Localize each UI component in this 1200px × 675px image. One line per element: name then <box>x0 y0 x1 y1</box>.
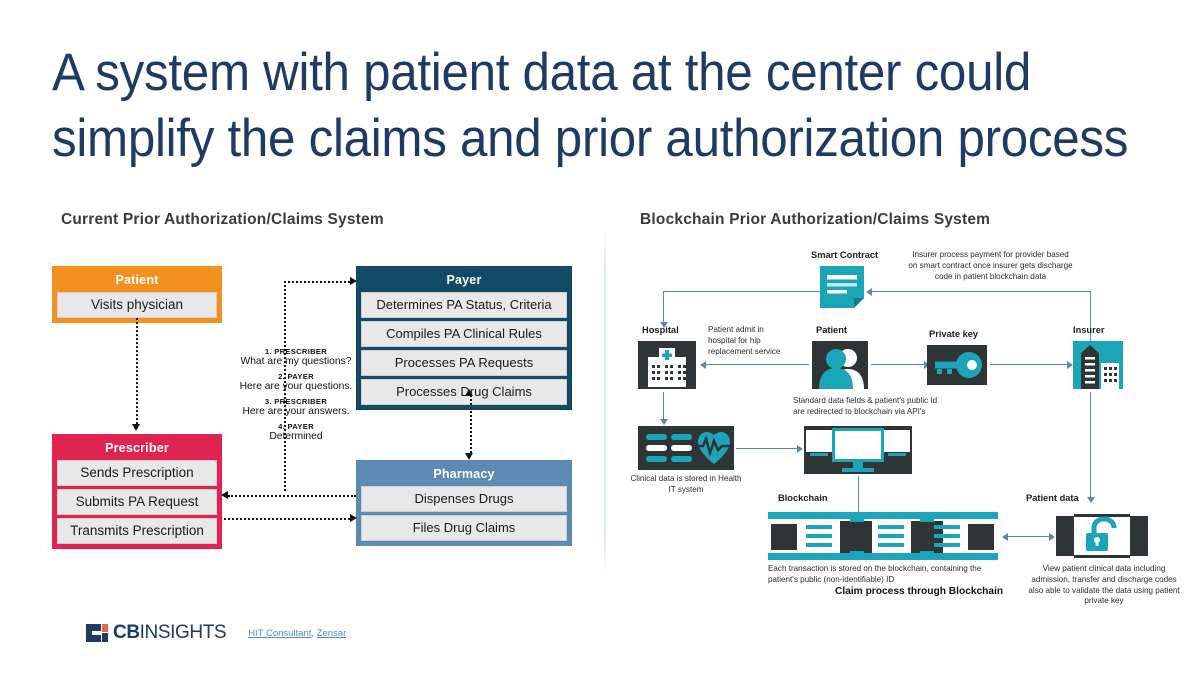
arrow-sc-to-hospital-v <box>663 291 664 323</box>
connector-prescriber-pharmacy <box>224 518 350 520</box>
section-header-current: Current Prior Authorization/Claims Syste… <box>61 211 384 229</box>
step-text: Here are your answers. <box>218 406 374 417</box>
arrowhead-right <box>797 445 803 453</box>
annotation-view-patient: View patient clinical data including adm… <box>1028 564 1180 607</box>
arrow-monitors-to-blockchain <box>858 476 859 516</box>
step-number: 3. PRESCRIBER <box>218 397 374 406</box>
logo-insights: INSIGHTS <box>140 622 227 643</box>
smart-contract-icon <box>820 266 864 313</box>
arrowhead-right <box>350 277 357 285</box>
node-label-patient: Patient <box>816 325 847 335</box>
flow-row: Processes Drug Claims <box>361 379 567 405</box>
step-item: 4. PAYER Determined <box>218 422 374 442</box>
title-line-1: A system with patient data at the center… <box>52 40 1084 106</box>
source-link-hit-consultant[interactable]: HIT Consultant <box>248 628 311 639</box>
arrow-insurer-to-patientdata <box>1090 392 1091 498</box>
arrowhead-right <box>1049 533 1055 541</box>
logo-cb: CB <box>113 622 140 643</box>
cbinsights-wordmark: CBINSIGHTS <box>113 622 226 644</box>
arrowhead-right <box>350 514 357 522</box>
flow-box-title: Prescriber <box>57 438 217 460</box>
step-item: 2. PAYER Here are your questions. <box>218 372 374 392</box>
step-item: 3. PRESCRIBER Here are your answers. <box>218 397 374 417</box>
hospital-icon <box>638 341 696 394</box>
flow-row: Determines PA Status, Criteria <box>361 292 567 318</box>
step-number: 2. PAYER <box>218 372 374 381</box>
step-text: Determined <box>218 431 374 442</box>
step-text: Here are your questions. <box>218 381 374 392</box>
slide: A system with patient data at the center… <box>0 0 1200 675</box>
patient-data-icon <box>1056 512 1148 565</box>
page-title: A system with patient data at the center… <box>52 40 1084 171</box>
node-label-private-key: Private key <box>929 329 978 339</box>
flow-box-prescriber: Prescriber Sends Prescription Submits PA… <box>52 434 222 549</box>
node-label-insurer: Insurer <box>1073 325 1105 335</box>
arrow-sc-to-hospital-h <box>663 291 820 292</box>
arrowhead-down <box>132 424 140 431</box>
section-header-blockchain: Blockchain Prior Authorization/Claims Sy… <box>640 211 990 229</box>
connector-pharmacy-prescriber <box>228 495 356 497</box>
arrowhead-down <box>660 419 668 425</box>
step-number: 1. PRESCRIBER <box>218 347 374 356</box>
private-key-icon <box>927 345 987 390</box>
arrow-clinical-to-monitors <box>736 448 798 449</box>
panel-divider <box>604 228 606 576</box>
flow-box-title: Pharmacy <box>361 464 567 486</box>
arrow-blockchain-patientdata <box>1006 536 1050 537</box>
clinical-data-icon <box>638 426 734 475</box>
monitors-icon <box>804 426 912 479</box>
flow-row: Visits physician <box>57 292 217 318</box>
cbinsights-logo-icon <box>86 624 108 642</box>
diagram-caption: Claim process through Blockchain <box>835 586 1003 597</box>
annotation-each-transaction: Each transaction is stored on the blockc… <box>768 564 998 586</box>
step-labels: 1. PRESCRIBER What are my questions? 2. … <box>218 347 374 447</box>
source-link-zensar[interactable]: Zensar <box>317 628 347 639</box>
flow-box-title: Patient <box>57 270 217 292</box>
flow-box-title: Payer <box>361 270 567 292</box>
connector-patient-prescriber <box>136 318 138 424</box>
annotation-clinical-data: Clinical data is stored in Health IT sys… <box>630 474 742 496</box>
arrowhead-up <box>465 389 473 396</box>
flow-box-pharmacy: Pharmacy Dispenses Drugs Files Drug Clai… <box>356 460 572 546</box>
flow-row: Transmits Prescription <box>57 518 217 544</box>
arrow-insurer-to-sc-h <box>870 291 1090 292</box>
arrowhead-left <box>700 361 706 369</box>
annotation-patient-admit: Patient admit in hospital for hip replac… <box>708 325 788 357</box>
connector-prescriber-payer-h <box>284 281 350 283</box>
flow-row: Dispenses Drugs <box>361 486 567 512</box>
node-label-smart-contract: Smart Contract <box>811 250 878 260</box>
flow-row: Sends Prescription <box>57 460 217 486</box>
blockchain-icon <box>768 512 998 565</box>
arrowhead-down <box>465 453 473 460</box>
patient-icon <box>812 341 868 394</box>
arrowhead-left <box>866 288 872 296</box>
title-line-2: simplify the claims and prior authorizat… <box>52 106 1084 172</box>
flow-box-payer: Payer Determines PA Status, Criteria Com… <box>356 266 572 410</box>
flow-box-patient: Patient Visits physician <box>52 266 222 323</box>
arrowhead-left <box>221 491 228 499</box>
blockchain-diagram: Smart Contract Insurer process payment f… <box>630 236 1190 606</box>
flow-row: Submits PA Request <box>57 489 217 515</box>
arrow-key-to-insurer <box>990 364 1068 365</box>
step-text: What are my questions? <box>218 356 374 367</box>
annotation-standard-data: Standard data fields & patient's public … <box>793 396 947 418</box>
step-item: 1. PRESCRIBER What are my questions? <box>218 347 374 367</box>
annotation-insurer-payment: Insurer process payment for provider bas… <box>908 250 1073 282</box>
flow-row: Compiles PA Clinical Rules <box>361 321 567 347</box>
node-label-blockchain: Blockchain <box>778 493 828 503</box>
insurer-icon <box>1073 341 1123 394</box>
arrow-insurer-to-sc-v <box>1090 291 1091 343</box>
flow-row: Files Drug Claims <box>361 515 567 541</box>
flow-row: Processes PA Requests <box>361 350 567 376</box>
arrowhead-left <box>1002 533 1008 541</box>
arrow-patient-to-key <box>871 364 925 365</box>
node-label-patient-data: Patient data <box>1026 493 1079 503</box>
footer: CBINSIGHTS HIT Consultant, Zensar <box>86 622 346 644</box>
arrowhead-down <box>1087 497 1095 503</box>
step-number: 4. PAYER <box>218 422 374 431</box>
source-links: HIT Consultant, Zensar <box>248 628 346 639</box>
arrow-hospital-to-clinical <box>663 392 664 420</box>
connector-payer-pharmacy <box>470 395 472 453</box>
arrow-patient-to-hospital <box>704 364 809 365</box>
node-label-hospital: Hospital <box>642 325 679 335</box>
